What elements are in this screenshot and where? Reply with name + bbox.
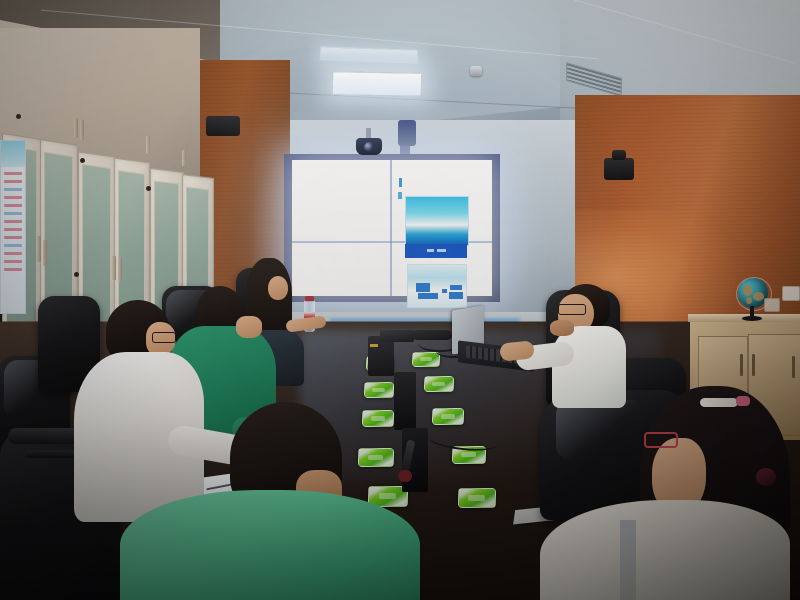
- cabinet-handle-top-4[interactable]: [182, 150, 186, 166]
- cabinet-handle-top-2[interactable]: [80, 120, 84, 140]
- smoke-detector-right: [470, 66, 482, 76]
- cabinet-handle-top-3[interactable]: [146, 136, 150, 154]
- cabinet-handle-top-1[interactable]: [74, 118, 78, 138]
- fluorescent-panel-bright: [332, 71, 422, 97]
- av-control-top: [380, 330, 414, 342]
- poster-text-row: [4, 172, 22, 175]
- cabinet-handle-1[interactable]: [37, 236, 41, 262]
- poster-text-row: [4, 212, 22, 215]
- poster-text-row: [4, 244, 22, 247]
- slide-cursor-mark-2: [398, 192, 402, 199]
- cabinet-lock-2[interactable]: [16, 114, 21, 119]
- camera-lens-icon: [364, 142, 374, 152]
- poster-text-row: [4, 188, 22, 191]
- green-snack-tray[interactable]: [358, 448, 394, 467]
- slide-cursor-mark: [399, 178, 402, 187]
- poster-text-row: [4, 228, 22, 231]
- wall-speaker-right-blue: [398, 120, 416, 146]
- cabinet-handle-4[interactable]: [118, 258, 122, 282]
- video-wall-bezel-vertical: [390, 160, 392, 296]
- green-snack-tray[interactable]: [364, 382, 394, 398]
- woman-red-eyeglasses: [644, 432, 678, 448]
- wall-outlet-1[interactable]: [782, 286, 800, 301]
- poster-text-row: [4, 180, 22, 183]
- poster-text-row: [4, 260, 22, 263]
- attendee-head: [268, 276, 288, 300]
- bottle-cap: [305, 296, 314, 301]
- microphone-head: [398, 470, 412, 482]
- green-snack-tray[interactable]: [458, 488, 496, 508]
- woman-hair-tie: [756, 468, 776, 486]
- poster-text-row: [4, 196, 22, 199]
- green-snack-tray[interactable]: [424, 376, 454, 392]
- attendee-eyeglasses: [152, 332, 176, 343]
- credenza-handle-2[interactable]: [752, 354, 755, 376]
- cabinet-lock-4[interactable]: [146, 186, 151, 191]
- poster-text-row: [4, 252, 22, 255]
- woman-hair-clip-pink: [736, 396, 750, 406]
- poster-text-row: [4, 220, 22, 223]
- presenter-torso-polo: [552, 326, 626, 408]
- slide-thumbnail-charts: [407, 264, 467, 308]
- attendee-neck: [236, 316, 262, 338]
- wall-speaker-right-black: [604, 158, 634, 180]
- conference-room-photo: Conference room training session: [0, 0, 800, 600]
- green-snack-tray[interactable]: [362, 410, 394, 427]
- gear-indicator-led: [370, 344, 378, 347]
- cabinet-handle-2[interactable]: [43, 240, 47, 266]
- poster-header-band: [1, 141, 25, 167]
- green-snack-tray[interactable]: [432, 408, 464, 425]
- presenter-eyeglasses: [558, 304, 586, 315]
- slide-thumbnail-seascape: [405, 196, 469, 246]
- foreground-attendee-shirt-mint: [120, 490, 420, 600]
- cabinet-handle-3[interactable]: [112, 256, 116, 280]
- woman-pearl-hair-clip: [700, 398, 738, 407]
- wall-outlet-2[interactable]: [764, 298, 780, 312]
- chair-highlight: [556, 400, 646, 460]
- globe-base: [742, 316, 762, 321]
- slide-thumbnail-title-bar: [405, 244, 467, 258]
- presenter-neck: [550, 320, 574, 336]
- woman-blouse-cream: [540, 500, 790, 600]
- credenza-handle-3[interactable]: [792, 356, 795, 378]
- av-control-unit: [368, 336, 394, 376]
- poster-text-row: [4, 204, 22, 207]
- wall-poster: [0, 140, 26, 314]
- green-snack-tray[interactable]: [412, 352, 440, 367]
- cabinet-lock-3[interactable]: [80, 158, 85, 163]
- poster-text-row: [4, 236, 22, 239]
- av-stand-column: [394, 372, 416, 430]
- poster-text-row: [4, 268, 22, 271]
- credenza-handle-1[interactable]: [740, 354, 743, 376]
- cabinet-lock-1[interactable]: [74, 272, 79, 277]
- wall-speaker-right-black-mount: [612, 150, 626, 160]
